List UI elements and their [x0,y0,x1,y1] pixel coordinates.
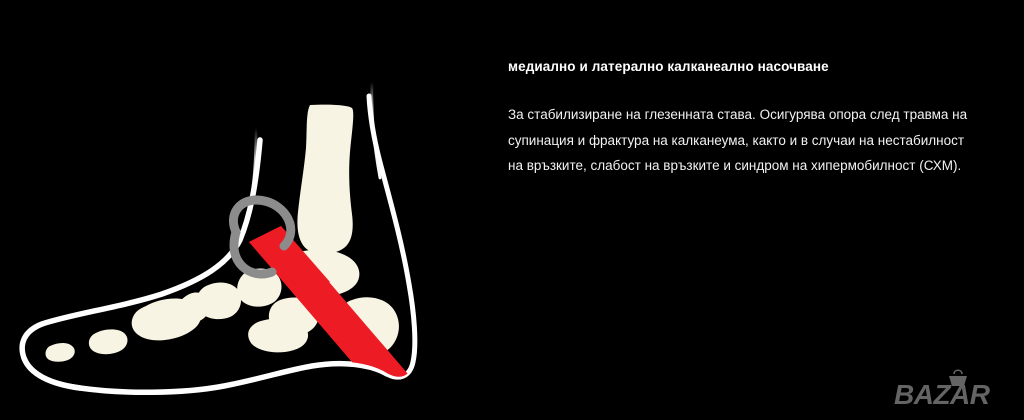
metatarsal-bone-2 [179,292,210,321]
product-description: За стабилизиране на глезенната става. Ос… [508,102,970,179]
ankle-anatomy-illustration [0,0,470,420]
phalange-bone-2 [46,343,75,362]
product-text-panel: медиално и латерално калканеално насочва… [508,58,988,179]
watermark-text: BAZAR [894,379,991,410]
achilles-contour-line [372,82,380,178]
phalange-bone-1 [89,329,128,354]
lesser-tarsal-bone [248,319,308,353]
product-detail-panel: медиално и латерално калканеално насочва… [0,0,1024,420]
product-heading: медиално и латерално калканеално насочва… [508,58,988,76]
tibia-bone [297,105,353,254]
bazar-watermark: BAZAR [886,366,1010,412]
